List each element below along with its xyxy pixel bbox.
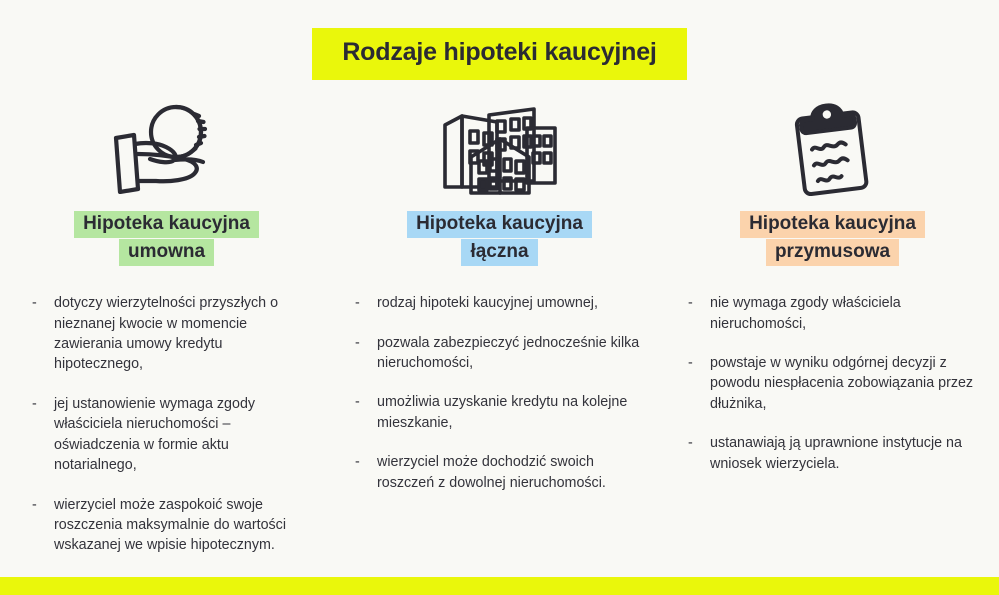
title-container: Rodzaje hipoteki kaucyjnej — [0, 28, 999, 80]
heading-line-2: łączna — [461, 239, 537, 266]
column-heading-laczna: Hipoteka kaucyjna łączna — [333, 210, 666, 265]
list-item-text: pozwala zabezpieczyć jednocześnie kilka … — [377, 335, 639, 371]
list-item-text: ustanawiają ją uprawnione instytucje na … — [710, 435, 962, 471]
column-heading-przymusowa: Hipoteka kaucyjna przymusowa — [666, 210, 999, 265]
bullet-marker: - — [32, 394, 37, 414]
heading-line-1: Hipoteka kaucyjna — [740, 211, 925, 238]
list-item: - pozwala zabezpieczyć jednocześnie kilk… — [355, 333, 644, 374]
bullet-marker: - — [688, 293, 693, 313]
columns-container: Hipoteka kaucyjna umowna - dotyczy wierz… — [0, 96, 999, 556]
list-item-text: umożliwia uzyskanie kredytu na kolejne m… — [377, 394, 627, 430]
bullet-list-przymusowa: - nie wymaga zgody właściciela nieruchom… — [666, 265, 999, 474]
heading-line-1: Hipoteka kaucyjna — [74, 211, 259, 238]
bullet-marker: - — [32, 293, 37, 313]
clipboard-icon — [783, 96, 883, 200]
list-item-text: nie wymaga zgody właściciela nieruchomoś… — [710, 295, 901, 331]
list-item-text: powstaje w wyniku odgórnej decyzji z pow… — [710, 355, 973, 412]
bullet-list-laczna: - rodzaj hipoteki kaucyjnej umownej, - p… — [333, 265, 666, 493]
list-item-text: dotyczy wierzytelności przyszłych o niez… — [54, 295, 278, 372]
column-heading-umowna: Hipoteka kaucyjna umowna — [0, 210, 333, 265]
list-item: - ustanawiają ją uprawnione instytucje n… — [688, 433, 979, 474]
bullet-marker: - — [355, 452, 360, 472]
bullet-marker: - — [355, 333, 360, 353]
list-item: - nie wymaga zgody właściciela nieruchom… — [688, 293, 979, 334]
bottom-accent-bar — [0, 577, 999, 595]
bullet-marker: - — [355, 293, 360, 313]
column-umowna: Hipoteka kaucyjna umowna - dotyczy wierz… — [0, 96, 333, 556]
infographic-root: Rodzaje hipoteki kaucyjnej — [0, 0, 999, 595]
column-przymusowa: Hipoteka kaucyjna przymusowa - nie wymag… — [666, 96, 999, 474]
list-item: - wierzyciel może dochodzić swoich roszc… — [355, 452, 644, 493]
heading-line-2: umowna — [119, 239, 214, 266]
bullet-marker: - — [688, 433, 693, 453]
bullet-marker: - — [688, 353, 693, 373]
list-item: - powstaje w wyniku odgórnej decyzji z p… — [688, 353, 979, 414]
bullet-list-umowna: - dotyczy wierzytelności przyszłych o ni… — [0, 265, 333, 556]
list-item: - wierzyciel może zaspokoić swoje roszcz… — [32, 495, 309, 556]
heading-line-1: Hipoteka kaucyjna — [407, 211, 592, 238]
list-item-text: wierzyciel może zaspokoić swoje roszczen… — [54, 497, 286, 554]
column-laczna: Hipoteka kaucyjna łączna - rodzaj hipote… — [333, 96, 666, 493]
list-item: - jej ustanowienie wymaga zgody właścici… — [32, 394, 309, 476]
list-item: - umożliwia uzyskanie kredytu na kolejne… — [355, 392, 644, 433]
page-title: Rodzaje hipoteki kaucyjnej — [312, 28, 686, 80]
list-item: - rodzaj hipoteki kaucyjnej umownej, — [355, 293, 644, 313]
heading-line-2: przymusowa — [766, 239, 899, 266]
hand-holding-coin-icon — [108, 96, 226, 200]
bullet-marker: - — [32, 495, 37, 515]
list-item-text: wierzyciel może dochodzić swoich roszcze… — [377, 454, 606, 490]
bullet-marker: - — [355, 392, 360, 412]
list-item-text: jej ustanowienie wymaga zgody właściciel… — [54, 396, 255, 473]
buildings-icon — [439, 96, 561, 200]
list-item: - dotyczy wierzytelności przyszłych o ni… — [32, 293, 309, 375]
list-item-text: rodzaj hipoteki kaucyjnej umownej, — [377, 295, 598, 311]
